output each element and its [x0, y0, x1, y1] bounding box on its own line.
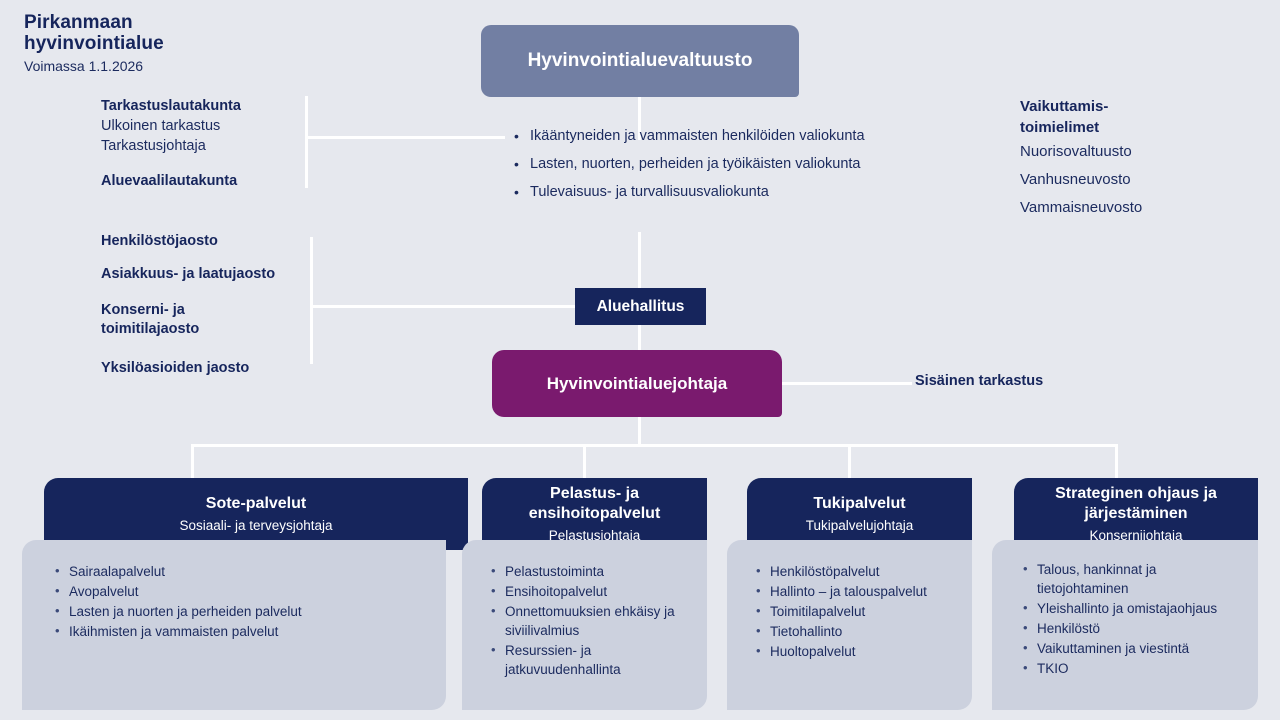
regional-board-box[interactable]: Aluehallitus — [575, 288, 706, 325]
list-item: Lasten ja nuorten ja perheiden palvelut — [52, 602, 432, 621]
service-card-list: Sairaalapalvelut Avopalvelut Lasten ja n… — [52, 562, 432, 641]
service-card-title: Pelastus- ja ensihoitopalvelut — [490, 484, 699, 524]
connector-sections-horizontal — [310, 305, 582, 308]
audit-committee-sub-1: Ulkoinen tarkastus — [101, 116, 301, 136]
service-card-title: Strateginen ohjaus ja järjestäminen — [1022, 484, 1250, 524]
council-box[interactable]: Hyvinvointialuevaltuusto — [481, 25, 799, 97]
section-item-asiakkuus: Asiakkuus- ja laatujaosto — [101, 265, 316, 284]
section-label: Konserni- ja toimitilajaosto — [101, 301, 231, 339]
service-card-body: Henkilöstöpalvelut Hallinto – ja talousp… — [727, 540, 972, 710]
influence-bodies-title-line-1: Vaikuttamis- — [1020, 96, 1270, 117]
service-card-lead: Tukipalvelujohtaja — [806, 516, 914, 535]
list-item: Vanhusneuvosto — [1020, 166, 1270, 194]
connector-drop-pelastus — [583, 444, 586, 478]
list-item: Huoltopalvelut — [753, 642, 964, 661]
list-item: Toimitilapalvelut — [753, 602, 964, 621]
service-card-title: Sote-palvelut — [206, 494, 306, 514]
internal-audit-label: Sisäinen tarkastus — [915, 373, 1043, 389]
audit-committee-sub-2: Tarkastusjohtaja — [101, 136, 301, 156]
section-item-konserni: Konserni- ja toimitilajaosto — [101, 301, 231, 339]
service-card-body: Sairaalapalvelut Avopalvelut Lasten ja n… — [22, 540, 446, 710]
service-card-pelastus[interactable]: Pelastus- ja ensihoitopalvelut Pelastusj… — [462, 478, 707, 710]
validity-date: Voimassa 1.1.2026 — [24, 58, 324, 75]
section-label: Yksilöasioiden jaosto — [101, 359, 316, 378]
list-item: Sairaalapalvelut — [52, 562, 432, 581]
election-board-title: Aluevaalilautakunta — [101, 172, 321, 191]
service-card-list: Henkilöstöpalvelut Hallinto – ja talousp… — [753, 562, 964, 661]
list-item: Talous, hankinnat ja tietojohtaminen — [1020, 560, 1248, 598]
connector-drop-tukipalvelut — [848, 444, 851, 478]
influence-bodies-title-line-2: toimielimet — [1020, 117, 1270, 138]
org-chart-canvas: Pirkanmaan hyvinvointialue Voimassa 1.1.… — [0, 0, 1280, 720]
brand-line-2: hyvinvointialue — [24, 33, 324, 54]
director-box[interactable]: Hyvinvointialuejohtaja — [492, 350, 782, 417]
connector-council-to-board — [638, 232, 641, 290]
section-label: Henkilöstöjaosto — [101, 232, 316, 251]
list-item: Vaikuttaminen ja viestintä — [1020, 639, 1248, 658]
council-title: Hyvinvointialuevaltuusto — [528, 50, 753, 72]
regional-board-title: Aluehallitus — [597, 298, 685, 316]
service-card-body: Pelastustoiminta Ensihoitopalvelut Onnet… — [462, 540, 707, 710]
connector-audit-horizontal — [305, 136, 505, 139]
service-card-strateginen[interactable]: Strateginen ohjaus ja järjestäminen Kons… — [992, 478, 1258, 710]
list-item: Henkilöstöpalvelut — [753, 562, 964, 581]
connector-director-to-internal-audit — [780, 382, 912, 385]
service-card-list: Pelastustoiminta Ensihoitopalvelut Onnet… — [488, 562, 697, 679]
service-card-sote[interactable]: Sote-palvelut Sosiaali- ja terveysjohtaj… — [22, 478, 446, 710]
committee-list: Ikääntyneiden ja vammaisten henkilöiden … — [512, 126, 872, 210]
connector-sections-vertical — [310, 237, 313, 364]
list-item: Lasten, nuorten, perheiden ja työikäiste… — [512, 154, 872, 175]
list-item: Yleishallinto ja omistajaohjaus — [1020, 599, 1248, 618]
service-card-list: Talous, hankinnat ja tietojohtaminen Yle… — [1020, 560, 1248, 678]
service-card-lead: Sosiaali- ja terveysjohtaja — [179, 516, 332, 535]
list-item: Tulevaisuus- ja turvallisuusvaliokunta — [512, 182, 872, 203]
list-item: Tietohallinto — [753, 622, 964, 641]
connector-director-stem — [638, 416, 641, 447]
list-item: Hallinto – ja talouspalvelut — [753, 582, 964, 601]
connector-board-to-director — [638, 324, 641, 352]
brand-line-1: Pirkanmaan — [24, 12, 324, 33]
list-item: Resurssien- ja jatkuvuudenhallinta — [488, 641, 697, 679]
service-card-title: Tukipalvelut — [813, 494, 905, 514]
section-item-henkilosto: Henkilöstöjaosto — [101, 232, 316, 251]
list-item: Vammaisneuvosto — [1020, 194, 1270, 222]
connector-service-bus — [191, 444, 1118, 447]
election-board-block: Aluevaalilautakunta — [101, 172, 321, 191]
influence-bodies-block: Vaikuttamis- toimielimet Nuorisovaltuust… — [1020, 96, 1270, 222]
list-item: Ensihoitopalvelut — [488, 582, 697, 601]
list-item: Avopalvelut — [52, 582, 432, 601]
director-title: Hyvinvointialuejohtaja — [547, 374, 727, 394]
list-item: TKIO — [1020, 659, 1248, 678]
service-card-tukipalvelut[interactable]: Tukipalvelut Tukipalvelujohtaja Henkilös… — [727, 478, 972, 710]
list-item: Ikäihmisten ja vammaisten palvelut — [52, 622, 432, 641]
service-card-body: Talous, hankinnat ja tietojohtaminen Yle… — [992, 540, 1258, 710]
list-item: Nuorisovaltuusto — [1020, 138, 1270, 166]
brand-title-block: Pirkanmaan hyvinvointialue Voimassa 1.1.… — [24, 12, 324, 75]
list-item: Henkilöstö — [1020, 619, 1248, 638]
section-item-yksiloasiat: Yksilöasioiden jaosto — [101, 359, 316, 378]
section-label: Asiakkuus- ja laatujaosto — [101, 265, 316, 284]
connector-drop-sote — [191, 444, 194, 478]
audit-committee-block: Tarkastuslautakunta Ulkoinen tarkastus T… — [101, 97, 301, 156]
list-item: Onnettomuuksien ehkäisy ja siviilivalmiu… — [488, 602, 697, 640]
list-item: Ikääntyneiden ja vammaisten henkilöiden … — [512, 126, 872, 147]
list-item: Pelastustoiminta — [488, 562, 697, 581]
connector-drop-strateginen — [1115, 444, 1118, 478]
audit-committee-title: Tarkastuslautakunta — [101, 97, 301, 116]
